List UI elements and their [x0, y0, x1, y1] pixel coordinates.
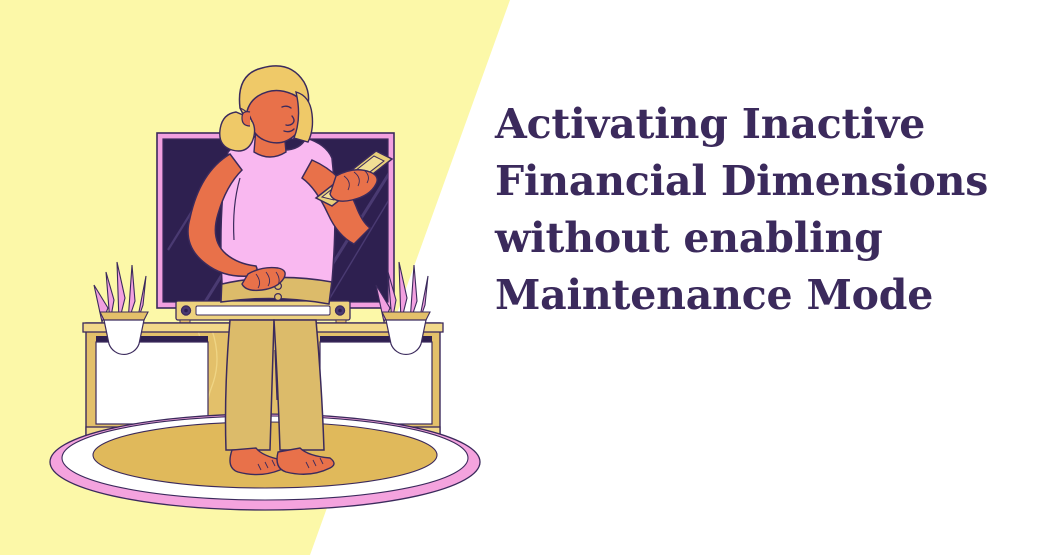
page-title: Activating Inactive Financial Dimensions…	[495, 96, 1040, 324]
banner-image: Activating Inactive Financial Dimensions…	[0, 0, 1047, 555]
title-line-3: without enabling	[495, 210, 1040, 267]
title-line-2: Financial Dimensions	[495, 153, 1040, 210]
title-line-1: Activating Inactive	[495, 96, 1040, 153]
title-line-4: Maintenance Mode	[495, 267, 1040, 324]
